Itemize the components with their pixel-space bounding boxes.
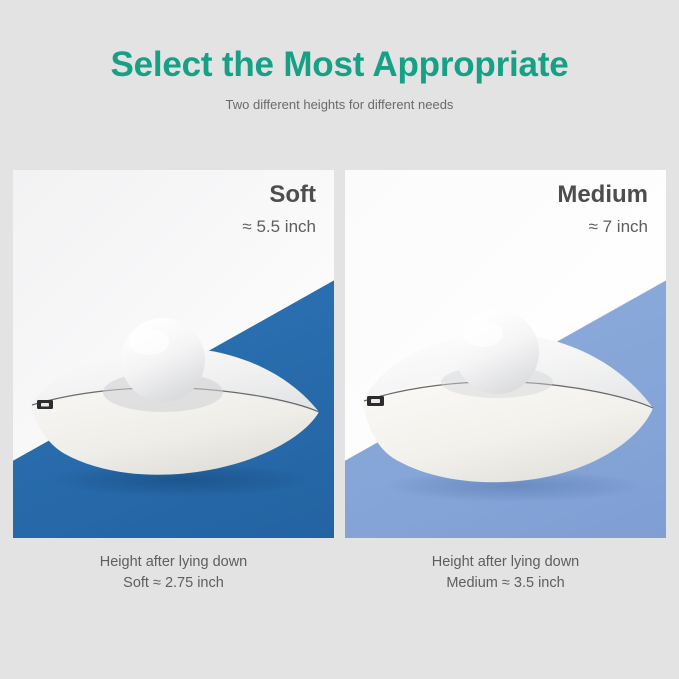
- panel-label-medium: Medium ≈ 7 inch: [557, 180, 648, 239]
- caption-medium-line1: Height after lying down: [345, 552, 666, 573]
- caption-medium: Height after lying down Medium ≈ 3.5 inc…: [345, 552, 666, 594]
- panel-label-soft: Soft ≈ 5.5 inch: [242, 180, 316, 239]
- captions-row: Height after lying down Soft ≈ 2.75 inch…: [0, 552, 679, 612]
- page-subtitle: Two different heights for different need…: [0, 96, 679, 114]
- firmness-name-medium: Medium: [557, 180, 648, 210]
- pillow-illustration-soft: [13, 308, 334, 538]
- caption-soft-line2: Soft ≈ 2.75 inch: [13, 573, 334, 594]
- comparison-panel-medium[interactable]: Medium ≈ 7 inch: [345, 170, 666, 538]
- header: Select the Most Appropriate Two differen…: [0, 0, 679, 160]
- firmness-name-soft: Soft: [242, 180, 316, 210]
- caption-soft-line1: Height after lying down: [13, 552, 334, 573]
- comparison-row: Soft ≈ 5.5 inch: [0, 170, 679, 540]
- caption-medium-line2: Medium ≈ 3.5 inch: [345, 573, 666, 594]
- firmness-height-soft: ≈ 5.5 inch: [242, 215, 316, 239]
- comparison-panel-soft[interactable]: Soft ≈ 5.5 inch: [13, 170, 334, 538]
- page-title: Select the Most Appropriate: [0, 44, 679, 86]
- firmness-height-medium: ≈ 7 inch: [557, 215, 648, 239]
- pillow-illustration-medium: [345, 308, 666, 538]
- caption-soft: Height after lying down Soft ≈ 2.75 inch: [13, 552, 334, 594]
